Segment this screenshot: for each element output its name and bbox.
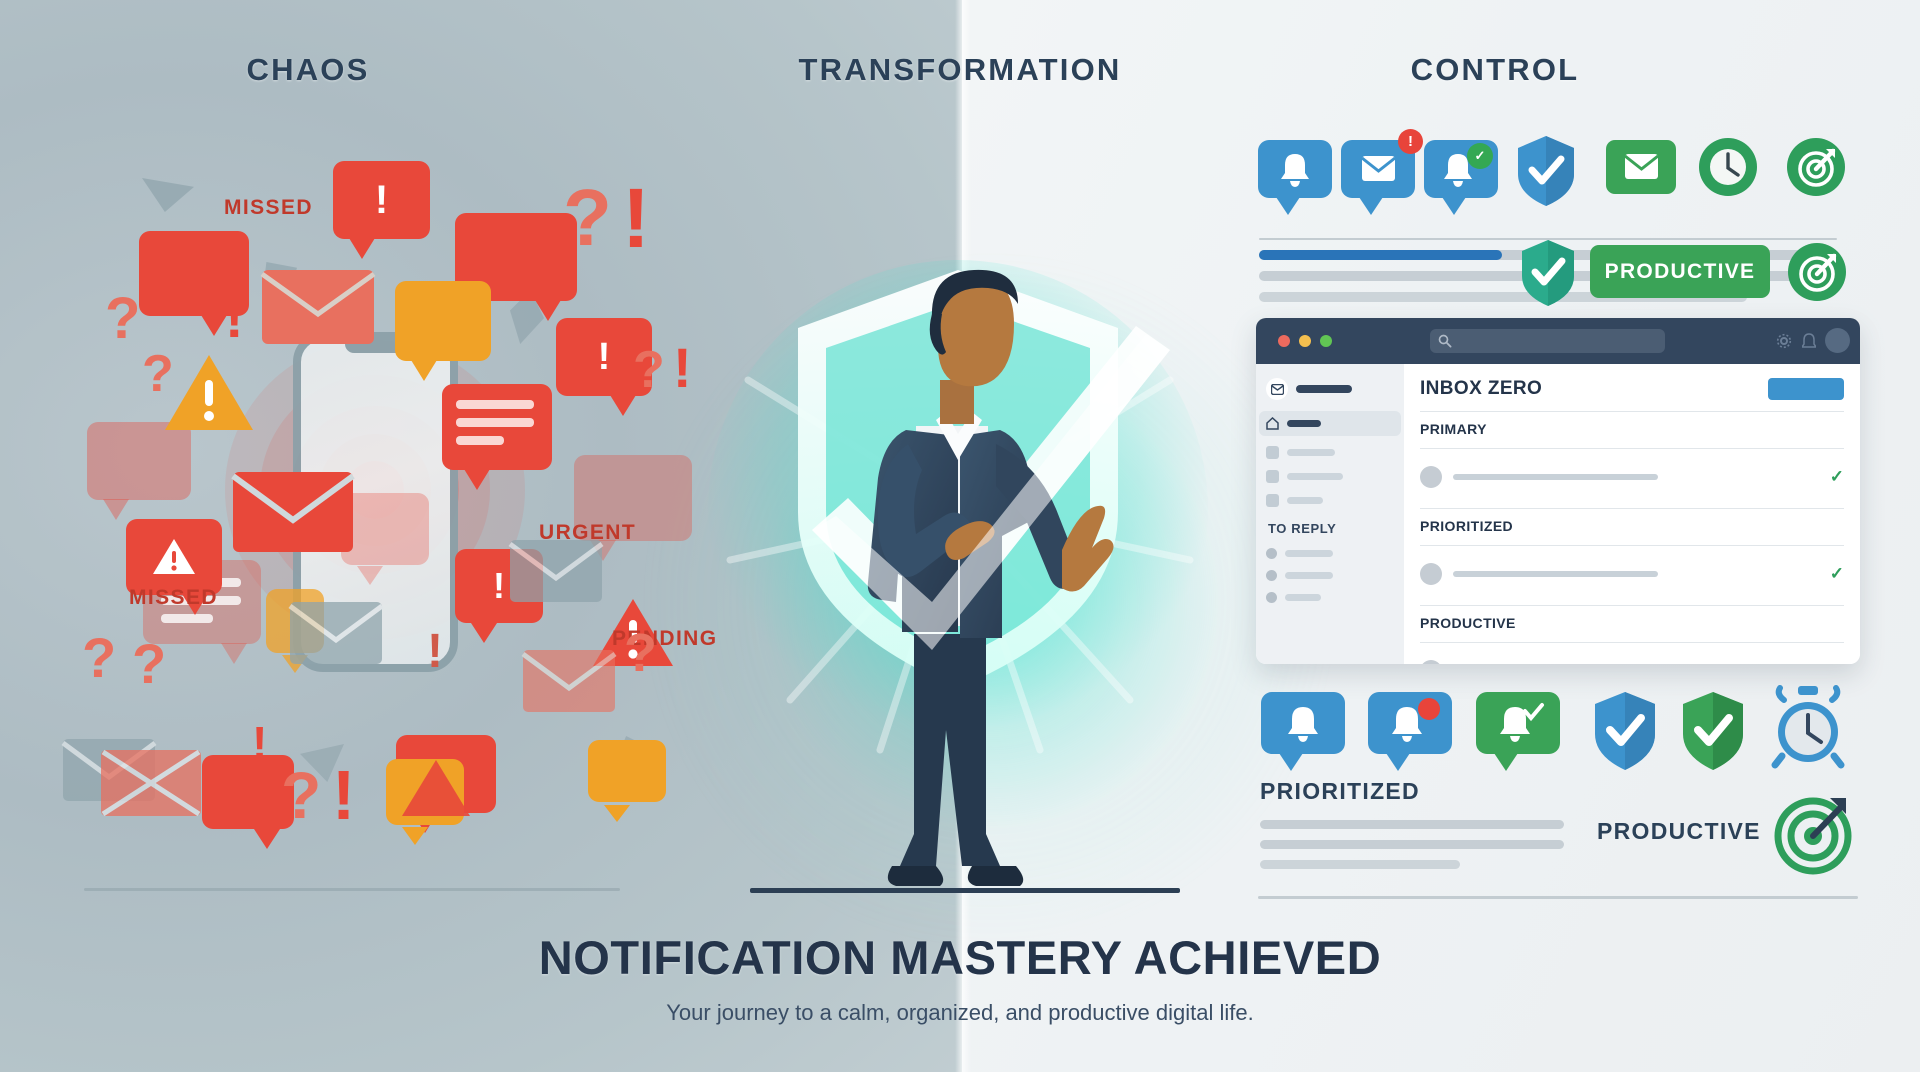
envelope-icon: [1266, 494, 1279, 507]
alert-bubble: !: [333, 161, 430, 239]
bell-alert-notification-icon[interactable]: [1368, 692, 1452, 754]
envelope-icon: [260, 264, 376, 348]
check-badge-icon: ✓: [1467, 143, 1493, 169]
app-sidebar: TO REPLY: [1256, 364, 1404, 664]
envelope-icon: [521, 646, 617, 716]
chaos-label: MISSED: [129, 586, 218, 610]
bell-icon[interactable]: [1802, 333, 1816, 349]
section-title-control: CONTROL: [1330, 52, 1660, 88]
sidebar-item[interactable]: [1266, 470, 1394, 483]
question-mark-icon: ?: [142, 348, 174, 400]
exclamation-icon: !: [333, 161, 430, 239]
status-dot-icon: [1266, 570, 1277, 581]
to-reply-label: [1285, 594, 1321, 601]
alert-bubble: [126, 519, 222, 595]
divider: [1420, 545, 1844, 546]
transformation-illustration: [700, 230, 1220, 910]
message-lines: [456, 400, 534, 454]
question-mark-icon: ?: [82, 630, 116, 686]
chaos-label: MISSED: [224, 196, 313, 220]
compose-button[interactable]: [1768, 378, 1844, 400]
progress-fill: [1259, 250, 1502, 260]
email-app-window[interactable]: TO REPLY INBOX ZERO PRIMARY ✓ PRIORITIZE…: [1256, 318, 1860, 664]
search-icon: [1438, 334, 1452, 348]
bubble-tail: [1279, 753, 1303, 771]
envelope-icon: [231, 466, 355, 558]
shard-icon: [142, 178, 194, 212]
table-row[interactable]: ✓: [1420, 555, 1844, 594]
email-preview: [1453, 474, 1658, 480]
question-mark-icon: ?: [563, 178, 612, 258]
check-icon: ✓: [1830, 661, 1844, 664]
exclamation-icon: !: [427, 628, 443, 676]
page-title: NOTIFICATION MASTERY ACHIEVED: [0, 930, 1920, 985]
window-titlebar: [1256, 318, 1860, 364]
to-reply-label: [1285, 572, 1333, 579]
email-preview: [1453, 571, 1658, 577]
divider: [1420, 448, 1844, 449]
bubble-tail: [471, 623, 497, 643]
sidebar-section-to-reply: TO REPLY: [1268, 521, 1394, 536]
sidebar-account-name: [1296, 385, 1352, 393]
divider: [1258, 896, 1858, 899]
exclamation-icon: !: [225, 290, 244, 346]
envelope-icon: [288, 598, 384, 668]
question-mark-icon: ?: [281, 762, 321, 828]
window-minimize-button[interactable]: [1299, 335, 1311, 347]
sidebar-account-row[interactable]: [1266, 378, 1394, 400]
bubble-tail: [1494, 753, 1518, 771]
check-icon: ✓: [1830, 467, 1844, 487]
question-mark-icon: ?: [633, 344, 665, 396]
inbox-section-productive: PRODUCTIVE: [1420, 615, 1844, 631]
question-mark-icon: ?: [624, 626, 657, 680]
mail-circle-green-icon[interactable]: [1606, 140, 1676, 194]
placeholder-line: [1260, 840, 1564, 849]
target-circle-green-icon[interactable]: [1786, 241, 1848, 303]
avatar[interactable]: [1825, 328, 1850, 353]
infographic-canvas: CHAOS TRANSFORMATION CONTROL !: [0, 0, 1920, 1072]
question-mark-icon: ?: [105, 290, 140, 348]
bell-approved-notification-icon[interactable]: ✓: [1424, 140, 1498, 198]
avatar: [1420, 466, 1442, 488]
exclamation-icon: !: [332, 760, 355, 830]
sidebar-item-label: [1287, 473, 1343, 480]
divider: [1420, 642, 1844, 643]
inbox-section-prioritized: PRIORITIZED: [1420, 518, 1844, 534]
bubble-tail: [1359, 197, 1383, 215]
inbox-section-primary: PRIMARY: [1420, 421, 1844, 437]
sidebar-item[interactable]: [1266, 494, 1394, 507]
bubble-tail: [221, 643, 247, 664]
window-close-button[interactable]: [1278, 335, 1290, 347]
folder-icon: [1266, 446, 1279, 459]
inbox-icon: [1266, 378, 1288, 400]
productive-badge[interactable]: PRODUCTIVE: [1590, 245, 1770, 298]
home-icon: [1266, 417, 1279, 430]
message-bubble: [442, 384, 552, 470]
divider: [1420, 508, 1844, 509]
to-reply-label: [1285, 550, 1333, 557]
shield-check-blue-icon[interactable]: [1592, 690, 1658, 772]
sidebar-item[interactable]: [1266, 446, 1394, 459]
exclamation-icon: !: [673, 340, 692, 396]
sidebar-item-inbox[interactable]: [1259, 411, 1401, 436]
ground-line: [750, 888, 1180, 893]
status-dot-icon: [1266, 548, 1277, 559]
bubble-tail: [201, 315, 227, 336]
search-input[interactable]: [1430, 329, 1665, 353]
to-reply-item[interactable]: [1266, 548, 1394, 559]
placeholder-line: [1260, 820, 1564, 829]
bell-notification-icon[interactable]: [1258, 140, 1332, 198]
bubble-tail: [1442, 197, 1466, 215]
clock-circle-green-icon[interactable]: [1697, 136, 1759, 198]
warning-triangle-icon: [152, 537, 196, 577]
to-reply-item[interactable]: [1266, 592, 1394, 603]
envelope-icon: [1266, 470, 1279, 483]
avatar: [1420, 563, 1442, 585]
placeholder-line: [1260, 860, 1460, 869]
warning-bubble: [395, 281, 491, 361]
bubble-tail: [464, 469, 490, 490]
warning-triangle-icon: [163, 352, 255, 434]
sidebar-item-label: [1287, 449, 1335, 456]
bubble-tail: [254, 829, 280, 849]
bubble-tail: [604, 805, 630, 822]
alert-badge-icon: [1418, 698, 1440, 720]
alarm-clock-icon[interactable]: [1768, 684, 1848, 770]
chaos-label: URGENT: [539, 521, 636, 545]
bubble-tail: [103, 499, 129, 520]
alert-badge-icon: !: [1398, 129, 1423, 154]
bubble-tail: [1386, 753, 1410, 771]
page-subtitle: Your journey to a calm, organized, and p…: [0, 1000, 1920, 1026]
check-icon: ✓: [1830, 564, 1844, 584]
bubble-tail: [357, 566, 383, 585]
bubble-tail: [1276, 197, 1300, 215]
table-row[interactable]: ✓: [1420, 652, 1844, 664]
to-reply-item[interactable]: [1266, 570, 1394, 581]
table-row[interactable]: ✓: [1420, 458, 1844, 497]
window-maximize-button[interactable]: [1320, 335, 1332, 347]
avatar: [1420, 660, 1442, 664]
target-circle-green-icon[interactable]: [1785, 136, 1847, 198]
bubble-tail: [402, 827, 428, 845]
target-icon[interactable]: [1770, 790, 1856, 876]
settings-icon[interactable]: [1776, 333, 1792, 349]
envelope-icon: [99, 746, 203, 820]
sidebar-item-label: [1287, 420, 1321, 427]
status-dot-icon: [1266, 592, 1277, 603]
divider: [1420, 411, 1844, 412]
divider: [1420, 605, 1844, 606]
inbox-panel: INBOX ZERO PRIMARY ✓ PRIORITIZED ✓: [1404, 364, 1860, 664]
bubble-tail: [349, 238, 375, 259]
exclamation-icon: !: [252, 720, 267, 766]
shield-check-green-icon[interactable]: [1680, 690, 1746, 772]
envelope-icon: [508, 536, 604, 606]
bubble-tail: [411, 360, 437, 381]
exclamation-icon: !: [622, 176, 650, 260]
bell-check-notification-icon[interactable]: [1476, 692, 1560, 754]
shield-check-teal-icon[interactable]: [1519, 238, 1577, 308]
prioritized-label: PRIORITIZED: [1260, 778, 1420, 805]
mail-alert-notification-icon[interactable]: !: [1341, 140, 1415, 198]
bell-notification-icon[interactable]: [1261, 692, 1345, 754]
question-mark-icon: ?: [132, 636, 166, 692]
sidebar-item-label: [1287, 497, 1323, 504]
warning-bubble: [588, 740, 666, 802]
productive-label: PRODUCTIVE: [1597, 818, 1761, 845]
divider: [84, 888, 620, 891]
warning-triangle-icon: [400, 758, 472, 820]
shield-check-blue-icon[interactable]: [1515, 134, 1577, 208]
